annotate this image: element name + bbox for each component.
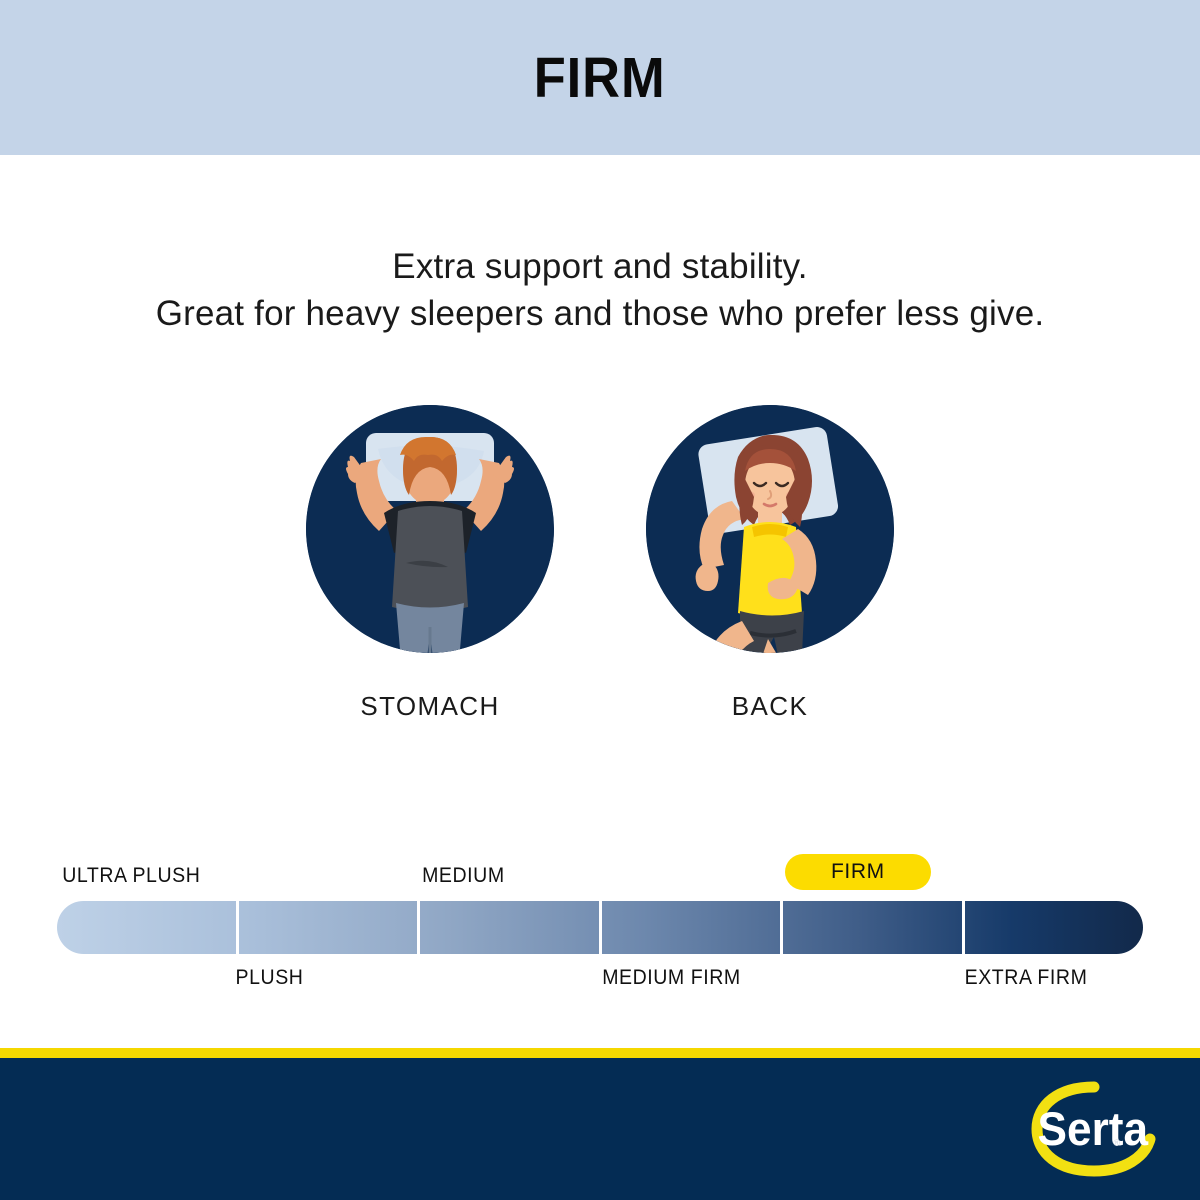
footer-accent-stripe bbox=[0, 1048, 1200, 1058]
svg-text:Serta: Serta bbox=[1038, 1103, 1149, 1156]
sleep-positions: STOMACH bbox=[0, 405, 1200, 722]
serta-logo[interactable]: Serta ® bbox=[1027, 1077, 1162, 1182]
subtitle-line-2: Great for heavy sleepers and those who p… bbox=[0, 290, 1200, 337]
scale-segment-extra-firm[interactable] bbox=[965, 901, 1144, 954]
registered-trademark-mark: ® bbox=[1113, 1138, 1120, 1148]
position-label-stomach: STOMACH bbox=[360, 691, 499, 722]
scale-segment-plush[interactable] bbox=[239, 901, 421, 954]
stomach-sleeper-icon bbox=[306, 405, 554, 653]
subtitle-block: Extra support and stability. Great for h… bbox=[0, 243, 1200, 337]
scale-bar bbox=[57, 901, 1143, 954]
scale-label-extra-firm: EXTRA FIRM bbox=[965, 966, 1088, 990]
scale-segment-ultra-plush[interactable] bbox=[57, 901, 239, 954]
scale-top-labels: ULTRA PLUSH MEDIUM FIRM bbox=[57, 860, 1143, 892]
scale-bottom-labels: PLUSH MEDIUM FIRM EXTRA FIRM bbox=[57, 966, 1143, 998]
position-back: BACK bbox=[625, 405, 915, 722]
scale-label-ultra-plush: ULTRA PLUSH bbox=[62, 864, 200, 888]
scale-label-firm-selected[interactable]: FIRM bbox=[785, 854, 931, 890]
scale-segment-medium-firm[interactable] bbox=[602, 901, 784, 954]
scale-segment-medium[interactable] bbox=[420, 901, 602, 954]
page-footer bbox=[0, 1058, 1200, 1200]
back-sleeper-icon bbox=[646, 405, 894, 653]
subtitle-line-1: Extra support and stability. bbox=[0, 243, 1200, 290]
scale-segment-firm[interactable] bbox=[783, 901, 965, 954]
page-title: FIRM bbox=[534, 45, 666, 111]
position-label-back: BACK bbox=[732, 691, 808, 722]
firmness-scale: ULTRA PLUSH MEDIUM FIRM PLUSH MEDIUM FIR… bbox=[0, 860, 1200, 998]
page-header: FIRM bbox=[0, 0, 1200, 155]
scale-label-medium-firm: MEDIUM FIRM bbox=[602, 966, 740, 990]
scale-label-plush: PLUSH bbox=[236, 966, 304, 990]
scale-label-medium: MEDIUM bbox=[422, 864, 505, 888]
position-stomach: STOMACH bbox=[285, 405, 575, 722]
